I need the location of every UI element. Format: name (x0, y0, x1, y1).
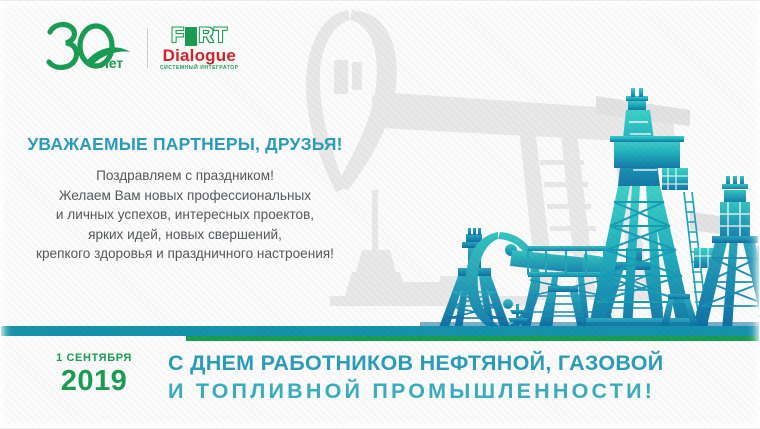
svg-text:лет: лет (100, 55, 123, 71)
event-date-year: 2019 (24, 365, 164, 397)
green-accent-bar (186, 336, 760, 341)
company-tagline: СИСТЕМНЫЙ ИНТЕГРАТОР (160, 66, 239, 71)
holiday-title-line-1: С ДНЕМ РАБОТНИКОВ НЕФТЯНОЙ, ГАЗОВОЙ (168, 350, 753, 376)
fort-letters-rt: RT (198, 25, 227, 46)
fort-letter-f: F (171, 25, 184, 46)
holiday-title: С ДНЕМ РАБОТНИКОВ НЕФТЯНОЙ, ГАЗОВОЙ И ТО… (168, 350, 753, 404)
greeting-line: Поздравляем с праздником! (0, 166, 370, 186)
fort-dialogue-logo: F RT Dialogue СИСТЕМНЫЙ ИНТЕГРАТОР (160, 25, 239, 71)
event-date: 1 СЕНТЯБРЯ 2019 (24, 352, 164, 397)
greeting-heading: УВАЖАЕМЫЕ ПАРТНЕРЫ, ДРУЗЬЯ! (0, 134, 370, 155)
fort-o-block-icon (185, 27, 197, 46)
logo-row: лет F RT Dialogue СИСТЕМНЫЙ ИНТЕГРАТОР (40, 20, 239, 76)
greeting-line: и личных успехов, интересных проектов, (0, 205, 370, 225)
greeting-line: Желаем Вам новых профессиональных (0, 186, 370, 206)
teal-divider-bar (0, 326, 760, 336)
holiday-title-line-2: И ТОПЛИВНОЙ ПРОМЫШЛЕННОСТИ! (168, 378, 753, 404)
greeting-block: УВАЖАЕМЫЕ ПАРТНЕРЫ, ДРУЗЬЯ! Поздравляем … (0, 134, 370, 264)
dialogue-wordmark: Dialogue (163, 47, 236, 64)
anniversary-30-years-logo: лет (40, 20, 135, 76)
logo-divider (147, 28, 148, 68)
greeting-line: ярких идей, новых свершений, (0, 225, 370, 245)
greeting-card: лет F RT Dialogue СИСТЕМНЫЙ ИНТЕГРАТОР У… (0, 0, 760, 429)
event-date-day: 1 СЕНТЯБРЯ (24, 352, 164, 364)
greeting-line: крепкого здоровья и праздничного настрое… (0, 244, 370, 264)
fort-wordmark: F RT (171, 25, 227, 46)
